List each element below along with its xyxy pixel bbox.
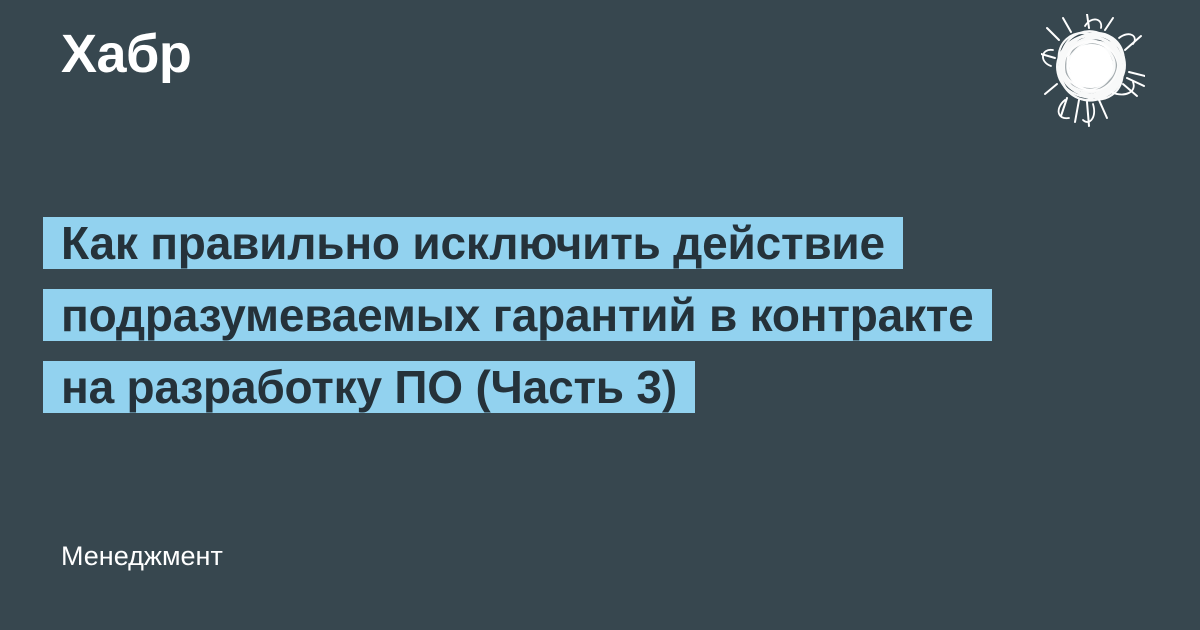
share-card: Хабр (0, 0, 1200, 630)
article-title: Как правильно исключить действие подразу… (61, 207, 1101, 423)
title-line-text: на разработку ПО (Часть 3) (43, 361, 695, 413)
title-line-text: подразумеваемых гарантий в контракте (43, 289, 992, 341)
title-line: Как правильно исключить действие (61, 207, 1101, 279)
title-line-text: Как правильно исключить действие (43, 217, 903, 269)
title-line: на разработку ПО (Часть 3) (61, 351, 1101, 423)
habr-scribble-icon (1041, 14, 1145, 130)
article-category[interactable]: Менеджмент (61, 540, 223, 572)
habr-logo[interactable]: Хабр (61, 24, 191, 84)
title-line: подразумеваемых гарантий в контракте (61, 279, 1101, 351)
